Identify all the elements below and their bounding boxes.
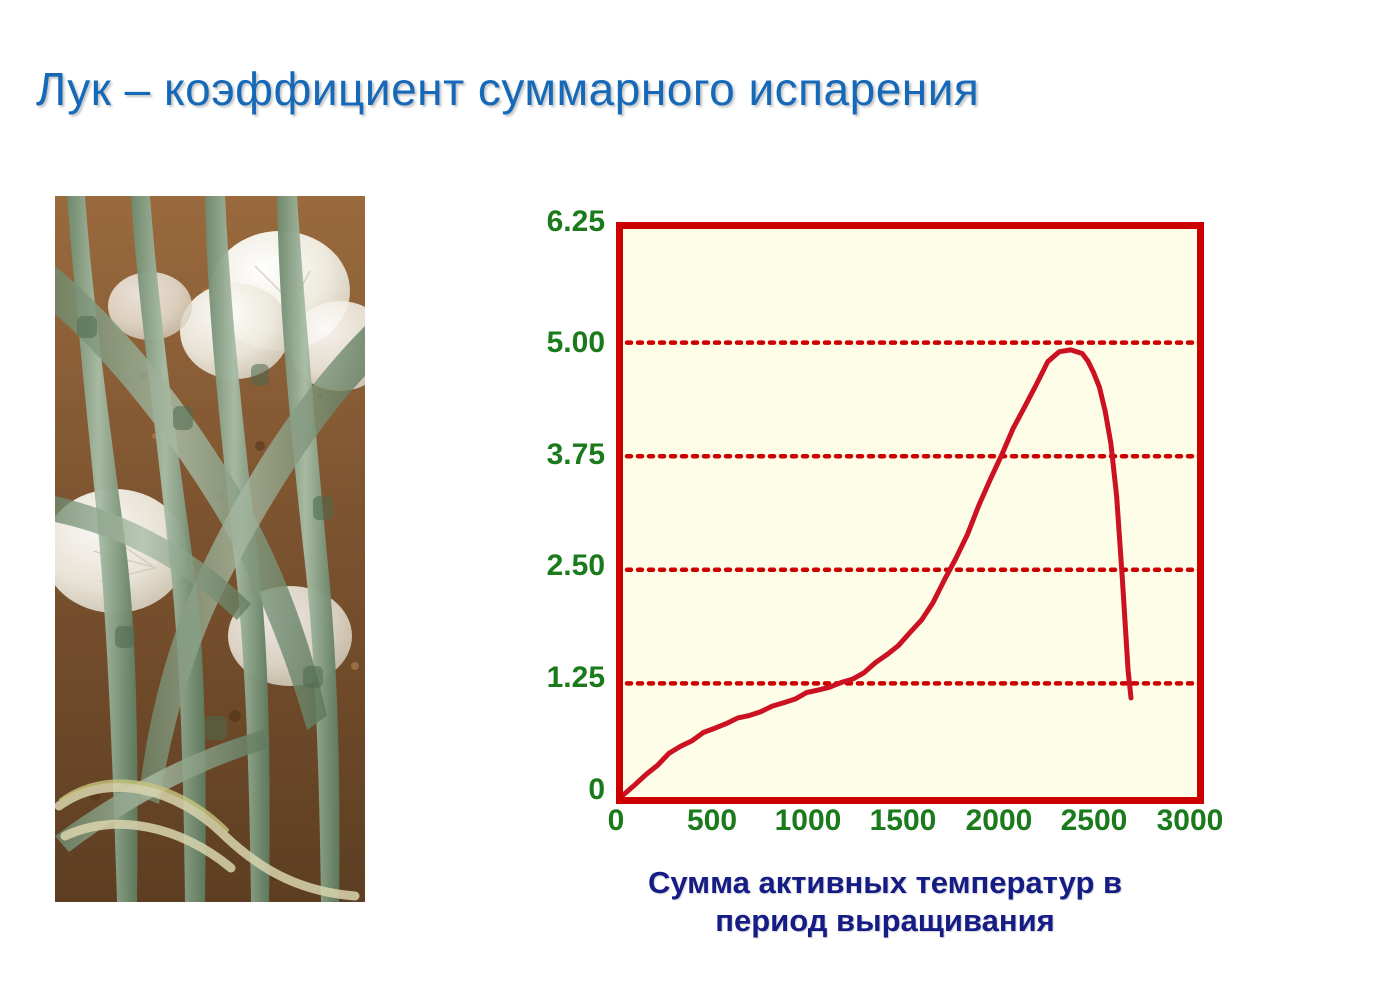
x-tick-label: 1000	[775, 804, 842, 838]
y-tick-label: 3.75	[465, 438, 605, 472]
y-tick-label: 5.00	[465, 326, 605, 360]
page-title: Лук – коэффициент суммарного испарения	[36, 62, 1336, 116]
x-axis-title: Сумма активных температур в период выращ…	[555, 864, 1215, 940]
data-series-group	[623, 350, 1195, 797]
y-tick-label: 1.25	[465, 661, 605, 695]
x-tick-label: 2500	[1061, 804, 1128, 838]
x-tick-label: 500	[687, 804, 737, 838]
y-tick-label: 0	[483, 773, 605, 807]
x-tick-label: 0	[608, 804, 625, 838]
chart-plot-svg	[623, 229, 1197, 797]
data-line	[623, 350, 1131, 795]
onion-photo-graphic	[55, 196, 365, 902]
evapotranspiration-chart: Подано воды в день (мм/день) 6.25 5.00 3…	[455, 196, 1255, 966]
x-axis-title-line-1: Сумма активных температур в	[555, 864, 1215, 902]
x-axis-tick-labels: 0 500 1000 1500 2000 2500 3000	[616, 804, 1204, 848]
x-tick-label: 2000	[966, 804, 1033, 838]
y-axis-tick-labels: 6.25 5.00 3.75 2.50 1.25 0	[455, 196, 605, 966]
y-tick-label: 2.50	[465, 549, 605, 583]
x-tick-label: 3000	[1157, 804, 1224, 838]
y-tick-label: 6.25	[465, 205, 605, 239]
onion-field-photo	[55, 196, 365, 902]
plot-area	[616, 222, 1204, 804]
x-axis-title-line-2: период выращивания	[555, 902, 1215, 940]
x-tick-label: 1500	[870, 804, 937, 838]
